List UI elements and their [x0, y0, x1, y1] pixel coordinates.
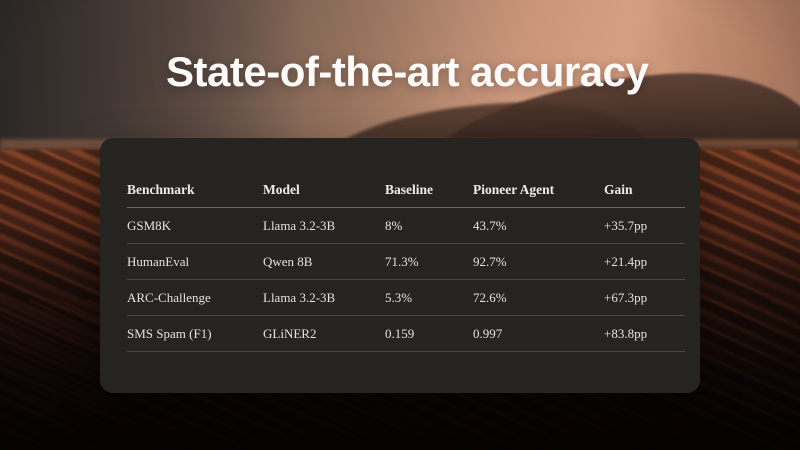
cell-gain: +67.3pp [604, 280, 685, 316]
column-header-benchmark: Benchmark [127, 182, 263, 208]
cell-baseline: 8% [385, 208, 473, 244]
cell-benchmark: HumanEval [127, 244, 263, 280]
page-title: State-of-the-art accuracy [166, 48, 648, 96]
cell-benchmark: SMS Spam (F1) [127, 316, 263, 352]
cell-pioneer-agent: 0.997 [473, 316, 604, 352]
column-header-baseline: Baseline [385, 182, 473, 208]
table-header-row: Benchmark Model Baseline Pioneer Agent G… [127, 182, 685, 208]
table-row: HumanEval Qwen 8B 71.3% 92.7% +21.4pp [127, 244, 685, 280]
column-header-model: Model [263, 182, 385, 208]
cell-model: GLiNER2 [263, 316, 385, 352]
cell-baseline: 0.159 [385, 316, 473, 352]
cell-gain: +35.7pp [604, 208, 685, 244]
column-header-gain: Gain [604, 182, 685, 208]
cell-gain: +21.4pp [604, 244, 685, 280]
table-row: SMS Spam (F1) GLiNER2 0.159 0.997 +83.8p… [127, 316, 685, 352]
cell-pioneer-agent: 43.7% [473, 208, 604, 244]
cell-benchmark: GSM8K [127, 208, 263, 244]
benchmark-card: Benchmark Model Baseline Pioneer Agent G… [100, 138, 700, 393]
cell-model: Llama 3.2-3B [263, 280, 385, 316]
table-row: ARC-Challenge Llama 3.2-3B 5.3% 72.6% +6… [127, 280, 685, 316]
cell-benchmark: ARC-Challenge [127, 280, 263, 316]
cell-model: Qwen 8B [263, 244, 385, 280]
column-header-pioneer-agent: Pioneer Agent [473, 182, 604, 208]
cell-model: Llama 3.2-3B [263, 208, 385, 244]
cell-gain: +83.8pp [604, 316, 685, 352]
cell-baseline: 71.3% [385, 244, 473, 280]
cell-pioneer-agent: 72.6% [473, 280, 604, 316]
slide: State-of-the-art accuracy Benchmark Mode… [0, 0, 800, 450]
table-row: GSM8K Llama 3.2-3B 8% 43.7% +35.7pp [127, 208, 685, 244]
benchmark-table: Benchmark Model Baseline Pioneer Agent G… [127, 182, 685, 352]
cell-baseline: 5.3% [385, 280, 473, 316]
cell-pioneer-agent: 92.7% [473, 244, 604, 280]
